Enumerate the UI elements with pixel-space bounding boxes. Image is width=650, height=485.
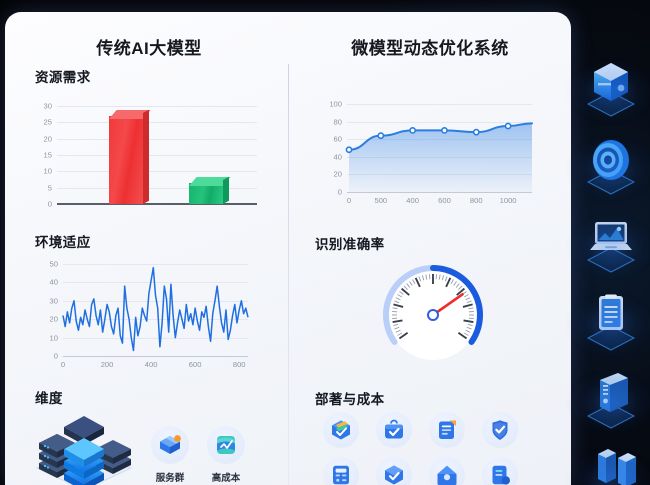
area-ytick: 60 — [334, 135, 342, 144]
line-ytick: 30 — [50, 296, 58, 305]
line-xtick: 600 — [189, 360, 202, 369]
bar-ytick: 20 — [44, 134, 52, 143]
line-ytick: 40 — [50, 278, 58, 287]
bar-gridline — [57, 139, 257, 140]
rail-glow — [568, 138, 650, 200]
deployment-icon-briefcase-check[interactable] — [376, 412, 412, 448]
area-ytick: 20 — [334, 170, 342, 179]
line-xtick: 800 — [233, 360, 246, 369]
resource-demand-chart: 302520151050 — [57, 106, 257, 204]
line-ytick: 50 — [50, 260, 58, 269]
rail-item-spiral-ring[interactable] — [572, 128, 650, 206]
area-ytick: 100 — [329, 100, 342, 109]
rail-item-tower-pc[interactable] — [572, 362, 650, 440]
bar-1 — [189, 183, 223, 204]
bar-axis — [57, 203, 257, 205]
section-title-environment-adaptation: 环境适应 — [35, 231, 91, 251]
dimension-label-high-cost: 高成本 — [212, 470, 241, 484]
bar-gridline — [57, 106, 257, 107]
high-cost-icon — [213, 432, 239, 458]
bar-ytick: 15 — [44, 151, 52, 160]
file-badge-icon — [488, 463, 512, 485]
deployment-icon-calculator[interactable] — [323, 457, 359, 485]
dimension-icon-service-cluster[interactable] — [151, 426, 189, 464]
line-axis — [63, 356, 248, 357]
deployment-icon-box-layers[interactable] — [323, 412, 359, 448]
right-icon-rail — [572, 0, 650, 485]
briefcase-check-icon — [382, 418, 406, 442]
section-title-deployment-cost: 部著与成本 — [315, 388, 385, 408]
accuracy-area-path — [347, 104, 532, 192]
area-xtick: 1000 — [500, 196, 517, 205]
screen-root: 传统AI大模型 微模型动态优化系统 资源需求 302520151050 环境适应… — [0, 0, 650, 485]
rail-glow — [568, 372, 650, 434]
bar-gridline — [57, 171, 257, 172]
bar-front — [109, 116, 143, 204]
deployment-icon-file-badge[interactable] — [482, 457, 518, 485]
left-panel-title: 传统AI大模型 — [10, 34, 288, 59]
accuracy-trend-chart: 02040608010005004006008001000 — [347, 104, 532, 192]
line-xtick: 400 — [145, 360, 158, 369]
main-card: 传统AI大模型 微模型动态优化系统 资源需求 302520151050 环境适应… — [5, 12, 571, 485]
rail-item-server-cube[interactable] — [572, 50, 650, 128]
dimension-icon-high-cost[interactable] — [207, 426, 245, 464]
deployment-icon-home[interactable] — [429, 457, 465, 485]
bar-ytick: 0 — [48, 200, 52, 209]
bar-ytick: 30 — [44, 102, 52, 111]
line-xtick: 0 — [61, 360, 65, 369]
dimension-label-service-cluster: 服务群 — [156, 470, 185, 484]
line-ytick: 20 — [50, 315, 58, 324]
calculator-icon — [329, 463, 353, 485]
section-title-accuracy: 识别准确率 — [315, 233, 385, 253]
area-axis — [347, 192, 532, 193]
rail-glow — [568, 60, 650, 122]
box-check-icon — [382, 463, 406, 485]
rail-item-server-pair[interactable] — [572, 440, 650, 485]
rail-item-laptop[interactable] — [572, 206, 650, 284]
section-title-dimension: 维度 — [35, 387, 63, 407]
area-xtick: 800 — [470, 196, 483, 205]
line-ytick: 0 — [54, 352, 58, 361]
rail-glow — [568, 294, 650, 356]
document-lines-icon — [435, 418, 459, 442]
environment-adaptation-chart: 010203040500200400600800 — [63, 264, 248, 356]
environment-line-path — [63, 264, 248, 356]
bar-side — [143, 110, 149, 204]
bar-ytick: 10 — [44, 167, 52, 176]
panel-divider — [288, 64, 289, 485]
rail-glow — [568, 216, 650, 278]
area-xtick: 0 — [347, 196, 351, 205]
area-ytick: 40 — [334, 152, 342, 161]
right-panel-title: 微模型动态优化系统 — [289, 34, 571, 59]
deployment-icon-shield-check[interactable] — [482, 412, 518, 448]
rail-item-tablet-document[interactable] — [572, 284, 650, 362]
area-xtick: 400 — [406, 196, 419, 205]
area-xtick: 500 — [374, 196, 387, 205]
bar-ytick: 25 — [44, 118, 52, 127]
area-ytick: 80 — [334, 117, 342, 126]
deployment-icon-document-lines[interactable] — [429, 412, 465, 448]
bar-gridline — [57, 122, 257, 123]
line-xtick: 200 — [101, 360, 114, 369]
section-title-resource-demand: 资源需求 — [35, 66, 91, 86]
server-cluster-illustration — [27, 410, 142, 485]
bar-side — [223, 177, 229, 204]
box-layers-icon — [329, 418, 353, 442]
bar-gridline — [57, 155, 257, 156]
area-xtick: 600 — [438, 196, 451, 205]
shield-check-icon — [488, 418, 512, 442]
home-icon — [435, 463, 459, 485]
rail-glow — [568, 450, 650, 485]
service-cluster-icon — [157, 432, 183, 458]
bar-ytick: 5 — [48, 183, 52, 192]
recognition-accuracy-gauge — [374, 255, 492, 373]
line-ytick: 10 — [50, 333, 58, 342]
area-ytick: 0 — [338, 188, 342, 197]
deployment-icon-box-check[interactable] — [376, 457, 412, 485]
bar-0 — [109, 116, 143, 204]
